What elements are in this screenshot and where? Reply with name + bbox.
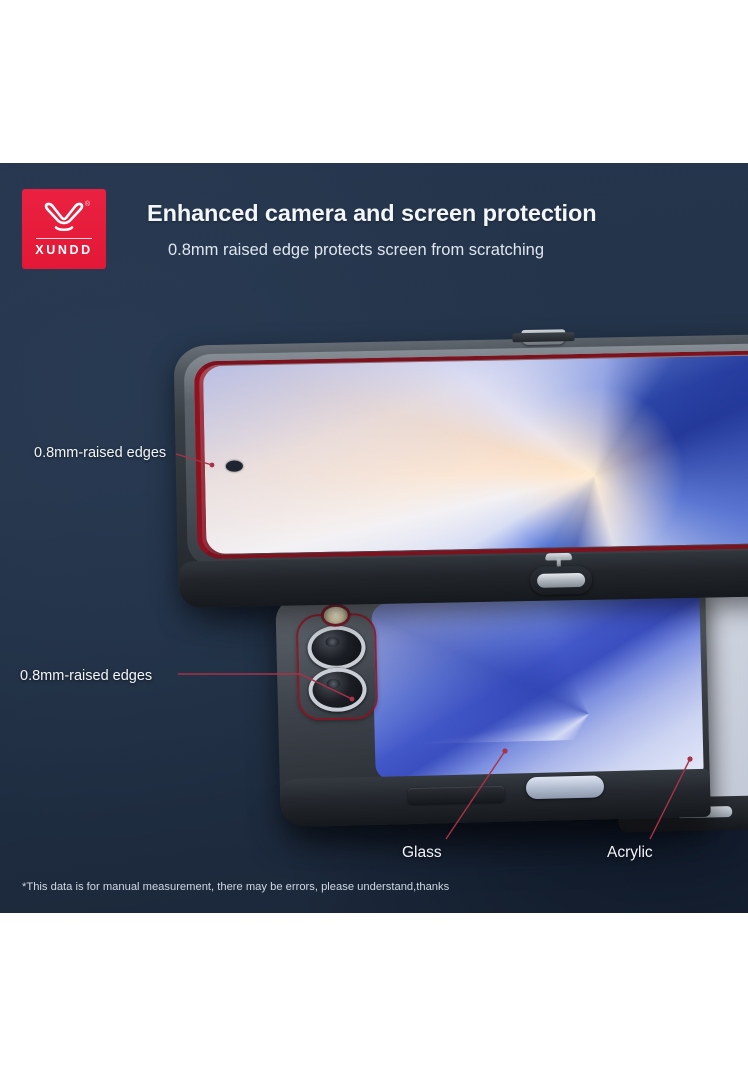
callout-material-acrylic: Acrylic: [607, 844, 653, 862]
product-marketing-image: ® XUNDD Enhanced camera and screen prote…: [0, 0, 748, 1080]
camera-flash-icon: [324, 607, 348, 625]
content-panel: ® XUNDD Enhanced camera and screen prote…: [0, 163, 748, 913]
glass-back-panel: [371, 595, 703, 781]
volume-button: [408, 786, 504, 804]
callout-raised-edge-camera: 0.8mm-raised edges: [20, 668, 152, 684]
power-button: [526, 775, 605, 799]
product-illustration: [0, 163, 748, 913]
callout-material-glass: Glass: [402, 844, 442, 862]
camera-lens: [308, 667, 367, 712]
device-front-screen: [174, 334, 748, 607]
callout-raised-edge-screen: 0.8mm-raised edges: [34, 445, 166, 461]
phone-screen-wallpaper: [203, 355, 748, 554]
side-button: [530, 566, 593, 595]
camera-lens: [307, 625, 366, 670]
disclaimer-text: *This data is for manual measurement, th…: [22, 881, 449, 893]
device-back-camera: [275, 585, 711, 827]
top-button: [521, 329, 565, 345]
camera-module: [298, 615, 376, 719]
